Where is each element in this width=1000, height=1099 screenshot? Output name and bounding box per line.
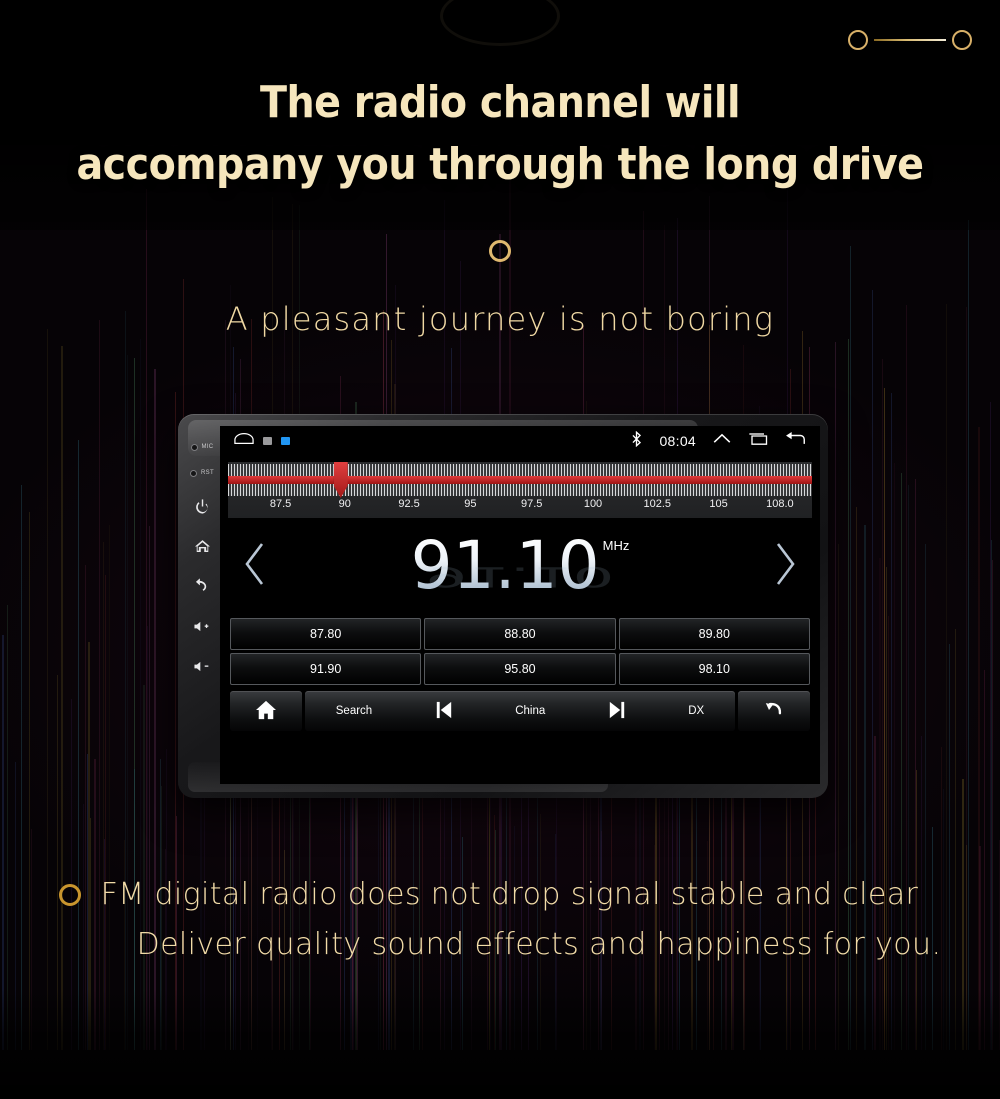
power-icon [194,498,211,515]
frequency-scale[interactable]: 87.59092.59597.5100102.5105108.0 [228,462,812,518]
android-status-bar: 08:04 [220,426,820,456]
toolbar-dx-button[interactable]: DX [688,705,704,717]
return-arrow-icon [763,700,785,723]
toolbar-prev-button[interactable] [434,701,454,722]
heading-line-1: The radio channel will [260,77,740,128]
frequency-value: 91.10 [411,534,600,598]
bottom-line-1: FM digital radio does not drop signal st… [101,877,919,912]
side-button-rst[interactable]: RST [190,460,214,486]
frequency-value-wrap: 91.10 MHz [411,534,630,598]
mic-label: MIC [202,444,214,450]
scale-tick-label: 100 [584,498,602,510]
scale-tick-label: 87.5 [270,498,291,510]
scale-tick-label: 102.5 [643,498,671,510]
page-heading: The radio channel will accompany you thr… [0,72,1000,196]
toolbar-next-button[interactable] [607,701,627,722]
heading-line-2: accompany you through the long drive [0,134,1000,196]
skip-previous-icon [434,701,454,722]
notification-icon [281,437,290,445]
device-side-button-rail: MIC RST [184,424,220,788]
ornament-ring-right [952,30,972,50]
chevron-up-icon[interactable] [713,432,731,450]
device-screen: 08:04 [220,426,820,784]
bluetooth-icon [631,431,642,452]
page-subtitle: A pleasant journey is not boring [0,300,1000,338]
bottom-line-2: Deliver quality sound effects and happin… [101,920,942,970]
side-button-power[interactable] [194,486,211,526]
scale-tick-label: 95 [464,498,476,510]
background-bottom-fade [0,989,1000,1099]
mic-hole-icon [191,444,198,451]
preset-button[interactable]: 98.10 [619,653,810,685]
bullet-ring-icon [59,884,81,906]
scale-red-bar [228,476,812,484]
volume-down-icon [193,659,212,674]
recents-icon[interactable] [748,432,768,451]
toolbar-search-button[interactable]: Search [336,705,372,717]
scale-tick-labels: 87.59092.59597.5100102.5105108.0 [228,498,812,518]
preset-button[interactable]: 89.80 [619,618,810,650]
toolbar-home-button[interactable] [230,691,302,731]
back-icon[interactable] [785,432,806,451]
bottom-toolbar: Search China [230,691,810,731]
side-button-back[interactable] [193,566,211,606]
bottom-copy-block: FM digital radio does not drop signal st… [0,870,1000,970]
frequency-unit: MHz [603,538,630,553]
preset-button[interactable]: 87.80 [230,618,421,650]
bottom-copy-lines: FM digital radio does not drop signal st… [101,870,942,970]
scale-tick-label: 97.5 [521,498,542,510]
preset-button[interactable]: 91.90 [230,653,421,685]
car-head-unit-device: MIC RST [178,414,828,798]
toolbar-return-button[interactable] [738,691,810,731]
home-filled-icon [255,700,277,723]
side-button-mic[interactable]: MIC [191,434,214,460]
status-bar-clock: 08:04 [659,433,696,449]
scale-tick-label: 90 [339,498,351,510]
scale-ticks-bottom [228,484,812,496]
side-button-home[interactable] [193,526,212,566]
rst-label: RST [201,470,214,476]
side-button-volume-up[interactable] [193,606,212,646]
scale-tick-label: 92.5 [398,498,419,510]
back-arrow-icon [193,577,211,595]
ornament-ring-left [848,30,868,50]
home-outline-icon [193,537,212,556]
volume-up-icon [193,619,212,634]
sd-card-icon [263,437,272,445]
reset-hole-icon [190,470,197,477]
scale-ticks-top [228,464,812,476]
home-outline-icon[interactable] [234,432,254,450]
status-bar-right-icons: 08:04 [631,431,806,452]
status-bar-left-icons [234,432,290,450]
skip-next-icon [607,701,627,722]
scale-tick-label: 105 [709,498,727,510]
preset-button[interactable]: 95.80 [424,653,615,685]
header-ornament [848,30,972,50]
scale-tick-label: 108.0 [766,498,794,510]
preset-grid: 87.8088.8089.8091.9095.8098.10 [230,618,810,685]
toolbar-region-button[interactable]: China [515,705,545,717]
prev-station-button[interactable] [242,541,268,592]
frequency-display-row: 91.10 MHz 91.10 [220,518,820,614]
ornament-line [874,39,946,41]
toolbar-center-group: Search China [305,691,735,731]
next-station-button[interactable] [772,541,798,592]
subtitle-ring-icon [489,240,511,262]
preset-button[interactable]: 88.80 [424,618,615,650]
side-button-volume-down[interactable] [193,646,212,686]
